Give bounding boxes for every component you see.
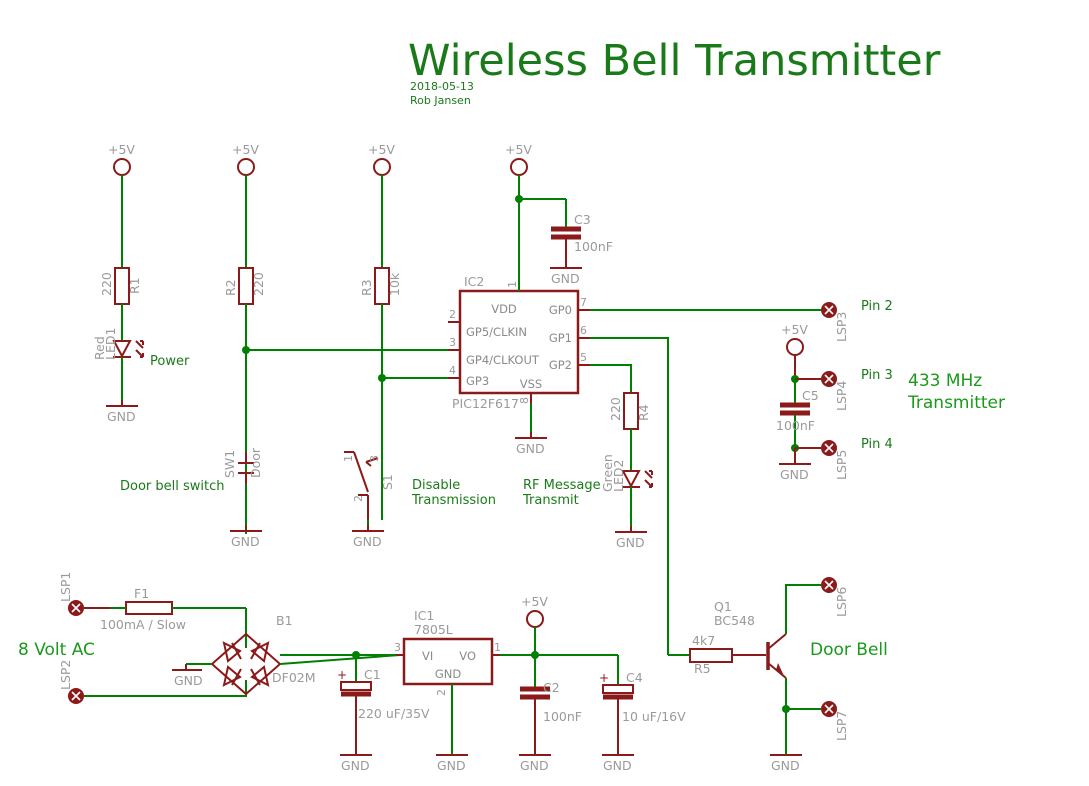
disable-transmission-line1: Disable: [412, 478, 460, 493]
c2-ref: C2: [543, 680, 560, 695]
power-led-annotation: Power: [150, 354, 190, 369]
sw1-ref: SW1: [222, 450, 237, 478]
ic2-pin5-name: GP2: [549, 358, 572, 372]
lsp3-pin-label: Pin 2: [861, 299, 893, 314]
wire-lsp2-to-bridge: [84, 680, 246, 696]
test-point-lsp5[interactable]: LSP5 Pin 4: [821, 437, 893, 480]
ic2-value: PIC12F617: [452, 396, 519, 411]
gnd-symbol-q1: GND: [770, 709, 802, 773]
door-bell-annotation: Door Bell: [810, 640, 888, 660]
q1-value: BC548: [714, 613, 755, 628]
sw1-value: Door: [248, 447, 263, 478]
gnd-label-c2: GND: [520, 758, 549, 773]
r1-ref: R1: [127, 277, 142, 294]
power-rail-symbol-3: +5V: [368, 142, 395, 268]
plus5v-label-3: +5V: [368, 142, 395, 157]
gnd-label: GND: [107, 409, 136, 424]
led1-ref: LED1: [103, 328, 118, 360]
document-date: 2018-05-13: [410, 80, 474, 93]
lsp4-ref: LSP4: [834, 381, 849, 411]
r1-value: 220: [99, 272, 114, 296]
transmitter-annotation-line1: 433 MHz: [908, 371, 982, 391]
ic2-pin7-name: GP0: [549, 303, 572, 317]
gnd-symbol-sw1: GND: [230, 525, 262, 549]
f1-value: 100mA / Slow: [100, 617, 186, 632]
gnd-label-b1: GND: [174, 673, 203, 688]
gnd-symbol-led2: GND: [615, 526, 647, 550]
power-rail-symbol-6: +5V: [521, 594, 548, 655]
gnd-label-c1: GND: [341, 758, 370, 773]
ic2-pin1-name: VDD: [491, 302, 517, 316]
rf-message-line1: RF Message: [523, 478, 601, 493]
wire-gp1-to-r5: [590, 338, 668, 655]
lsp4-pin-label: Pin 3: [861, 368, 893, 383]
gnd-label-sw1: GND: [231, 534, 260, 549]
capacitor-c3: C3 100nF: [519, 199, 613, 268]
ic2-pin3-number: 3: [449, 336, 456, 349]
r4-ref: R4: [636, 404, 651, 421]
ic1-pin1-name: VO: [459, 649, 476, 663]
resistor-r2: R2 220: [223, 268, 266, 534]
gnd-symbol-c1: GND: [340, 755, 372, 773]
ic2-ref: IC2: [464, 274, 484, 289]
capacitor-c2: C2 100nF: [520, 655, 582, 755]
ic1-pin2-name: GND: [435, 667, 462, 681]
ic2-pin1-number: 1: [506, 281, 519, 288]
ic2-pin4-name: GP3: [466, 374, 489, 388]
switch-s1-disable[interactable]: 1 2 3 S1 Disable Transmission: [342, 452, 496, 531]
junction-dot-r3: [378, 374, 386, 382]
led1-red-power: Red LED1 Power: [92, 328, 190, 400]
test-point-lsp2[interactable]: LSP2: [58, 660, 84, 704]
c3-ref: C3: [574, 212, 591, 227]
gnd-label-c3: GND: [551, 271, 580, 286]
lsp6-ref: LSP6: [834, 587, 849, 617]
ic1-ref: IC1: [414, 608, 434, 623]
s1-pin3: 3: [368, 455, 381, 462]
c2-value: 100nF: [543, 709, 582, 724]
schematic-sheet: Wireless Bell Transmitter 2018-05-13 Rob…: [0, 0, 1089, 786]
plus5v-label-5: +5V: [781, 322, 808, 337]
ic1-pin3-number: 3: [394, 641, 401, 654]
gnd-label-q1: GND: [771, 758, 800, 773]
test-point-lsp4[interactable]: LSP4 Pin 3: [821, 368, 893, 411]
gnd-label-c5: GND: [780, 467, 809, 482]
document-author: Rob Jansen: [410, 94, 471, 107]
wire-gp2-to-r4: [590, 365, 631, 393]
lsp5-ref: LSP5: [834, 450, 849, 480]
ic1-pin2-number: 2: [435, 689, 448, 696]
fuse-f1: F1 100mA / Slow: [100, 586, 246, 632]
plus5v-label-6: +5V: [521, 594, 548, 609]
gnd-label-s1: GND: [353, 534, 382, 549]
capacitor-c4: + C4 10 uF/16V: [599, 655, 686, 755]
door-bell-switch-annotation: Door bell switch: [120, 479, 225, 494]
led2-ref: LED2: [611, 460, 626, 492]
schematic-canvas: Wireless Bell Transmitter 2018-05-13 Rob…: [0, 0, 1089, 786]
ic2-pin2-name: GP5/CLKIN: [466, 325, 527, 339]
lsp1-ref: LSP1: [58, 572, 73, 602]
lsp7-ref: LSP7: [834, 711, 849, 741]
test-point-lsp1[interactable]: LSP1: [58, 572, 84, 616]
disable-transmission-line2: Transmission: [411, 493, 496, 508]
s1-ref: S1: [380, 474, 395, 490]
power-rail-symbol-1: +5V: [108, 142, 135, 268]
gnd-symbol-ic2: GND: [515, 432, 547, 456]
led2-green: Green LED2: [600, 454, 652, 526]
gnd-symbol-s1: GND: [352, 525, 384, 549]
plus5v-label-4: +5V: [505, 142, 532, 157]
gnd-label-ic2: GND: [516, 441, 545, 456]
lsp2-ref: LSP2: [58, 660, 73, 690]
switch-sw1-door[interactable]: SW1 Door Door bell switch: [120, 447, 263, 494]
c4-value: 10 uF/16V: [622, 709, 686, 724]
gnd-symbol-c5: GND: [779, 448, 811, 482]
ic2-pin7-number: 7: [580, 296, 587, 309]
transistor-q1-bc548: Q1 BC548 Door Bell: [714, 585, 888, 709]
gnd-symbol-led1: GND: [106, 400, 138, 424]
gnd-symbol-c2: GND: [519, 755, 551, 773]
r3-ref: R3: [359, 279, 374, 296]
r2-value: 220: [251, 272, 266, 296]
gnd-symbol-ic1: GND: [436, 755, 468, 773]
test-point-lsp7[interactable]: LSP7: [821, 701, 849, 741]
r5-ref: R5: [694, 661, 711, 676]
ic2-pic12f617: IC2 PIC12F617 1 VDD 2 GP5/CLKIN 3 GP4/CL…: [448, 199, 590, 432]
r2-ref: R2: [223, 279, 238, 296]
c1-ref: C1: [364, 667, 381, 682]
q1-ref: Q1: [714, 599, 732, 614]
resistor-r5: 4k7 R5: [668, 633, 766, 676]
supply-input-annotation: 8 Volt AC: [18, 640, 95, 660]
gnd-symbol-c4: GND: [602, 755, 634, 773]
ic2-pin6-name: GP1: [549, 331, 572, 345]
r5-value: 4k7: [692, 633, 715, 648]
power-rail-symbol-2: +5V: [232, 142, 259, 268]
power-rail-symbol-5: +5V: [781, 322, 808, 379]
gnd-label-ic1: GND: [437, 758, 466, 773]
transmitter-annotation-line2: Transmitter: [907, 393, 1005, 413]
c4-polarity: +: [599, 671, 609, 685]
ic1-pin3-name: VI: [422, 649, 433, 663]
ic2-pin4-number: 4: [449, 364, 456, 377]
lsp5-pin-label: Pin 4: [861, 437, 893, 452]
test-point-lsp3[interactable]: LSP3 Pin 2: [821, 299, 893, 342]
gnd-symbol-c3: GND: [550, 268, 582, 286]
c5-ref: C5: [802, 388, 819, 403]
f1-ref: F1: [134, 586, 149, 601]
ic1-7805l: IC1 7805L 3 VI 1 VO GND 2: [394, 608, 501, 755]
lsp3-ref: LSP3: [834, 312, 849, 342]
ic2-pin2-number: 2: [449, 308, 456, 321]
s1-pin1: 1: [342, 455, 355, 462]
b1-ref: B1: [276, 613, 293, 628]
rf-message-line2: Transmit: [522, 493, 579, 508]
test-point-lsp6[interactable]: LSP6: [821, 577, 849, 617]
page-title: Wireless Bell Transmitter: [408, 36, 941, 86]
ic2-pin5-number: 5: [580, 351, 587, 364]
ic2-pin6-number: 6: [580, 324, 587, 337]
b1-value: DF02M: [272, 670, 316, 685]
c4-ref: C4: [626, 670, 643, 685]
ic1-value: 7805L: [414, 622, 453, 637]
gnd-label-c4: GND: [603, 758, 632, 773]
gnd-label-led2: GND: [616, 535, 645, 550]
ic2-pin8-name: VSS: [520, 377, 542, 391]
c5-value: 100nF: [776, 418, 815, 433]
ic2-pin8-number: 8: [518, 397, 531, 404]
c1-polarity: +: [337, 668, 347, 682]
capacitor-c5: C5 100nF: [776, 379, 819, 448]
c1-value: 220 uF/35V: [358, 706, 430, 721]
plus5v-label-2: +5V: [232, 142, 259, 157]
r4-value: 220: [608, 397, 623, 421]
ic2-pin3-name: GP4/CLKOUT: [466, 353, 540, 367]
junction-dot: [242, 346, 250, 354]
c3-value: 100nF: [574, 239, 613, 254]
power-rail-symbol-4: +5V: [505, 142, 532, 199]
s1-pin2: 2: [352, 495, 365, 502]
r3-value: 10k: [387, 272, 402, 296]
plus5v-label: +5V: [108, 142, 135, 157]
ic1-pin1-number: 1: [494, 641, 501, 654]
